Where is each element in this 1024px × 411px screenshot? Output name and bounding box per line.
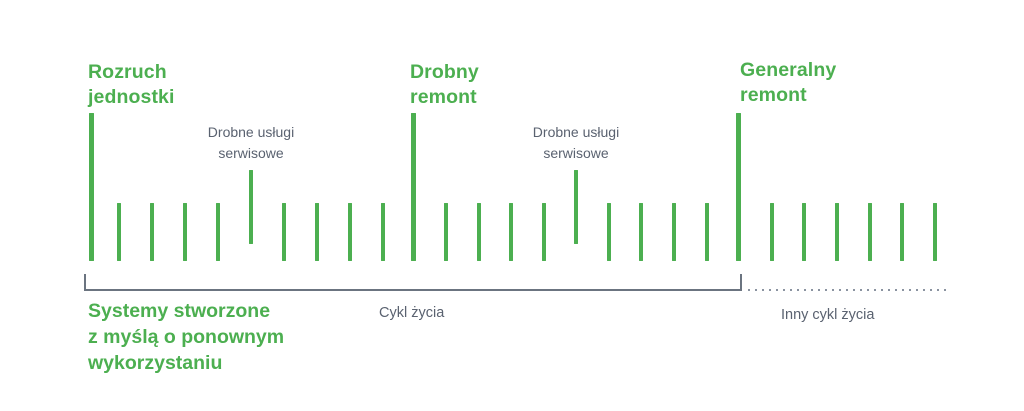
milestone-label-minor-overhaul: Drobny remont bbox=[410, 60, 479, 110]
tick-minor bbox=[117, 203, 121, 261]
tick-minor bbox=[348, 203, 352, 261]
timeline-diagram: Rozruch jednostki Drobny remont Generaln… bbox=[0, 0, 1024, 411]
tick-minor bbox=[672, 203, 676, 261]
tick-minor bbox=[835, 203, 839, 261]
tick-minor bbox=[900, 203, 904, 261]
tick-minor bbox=[477, 203, 481, 261]
caption-reuse-systems: Systemy stworzone z myślą o ponownym wyk… bbox=[88, 298, 284, 376]
service-label-1: Drobne usługi serwisowe bbox=[151, 122, 351, 164]
tick-minor bbox=[933, 203, 937, 261]
tick-minor bbox=[183, 203, 187, 261]
caption-life-cycle: Cykl życia bbox=[379, 303, 444, 323]
tick-minor bbox=[607, 203, 611, 261]
tick-minor bbox=[802, 203, 806, 261]
bracket-span-line bbox=[84, 289, 742, 291]
tick-minor bbox=[509, 203, 513, 261]
tick-minor bbox=[315, 203, 319, 261]
caption-other-life-cycle: Inny cykl życia bbox=[781, 305, 874, 325]
tick-minor bbox=[639, 203, 643, 261]
tick-minor bbox=[150, 203, 154, 261]
tick-minor bbox=[705, 203, 709, 261]
tick-major-startup bbox=[89, 113, 94, 261]
tick-medium-service-2 bbox=[574, 170, 578, 244]
milestone-label-startup: Rozruch jednostki bbox=[88, 60, 175, 110]
bracket-right-cap bbox=[740, 274, 742, 291]
tick-medium-service-1 bbox=[249, 170, 253, 244]
tick-major-major-overhaul bbox=[736, 113, 741, 261]
tick-minor bbox=[216, 203, 220, 261]
tick-major-minor-overhaul bbox=[411, 113, 416, 261]
milestone-label-major-overhaul: Generalny remont bbox=[740, 58, 836, 108]
service-label-2: Drobne usługi serwisowe bbox=[476, 122, 676, 164]
tick-minor bbox=[444, 203, 448, 261]
tick-minor bbox=[868, 203, 872, 261]
tick-minor bbox=[770, 203, 774, 261]
tick-minor bbox=[282, 203, 286, 261]
dotted-continuation-line bbox=[748, 289, 946, 291]
tick-minor bbox=[542, 203, 546, 261]
tick-minor bbox=[381, 203, 385, 261]
